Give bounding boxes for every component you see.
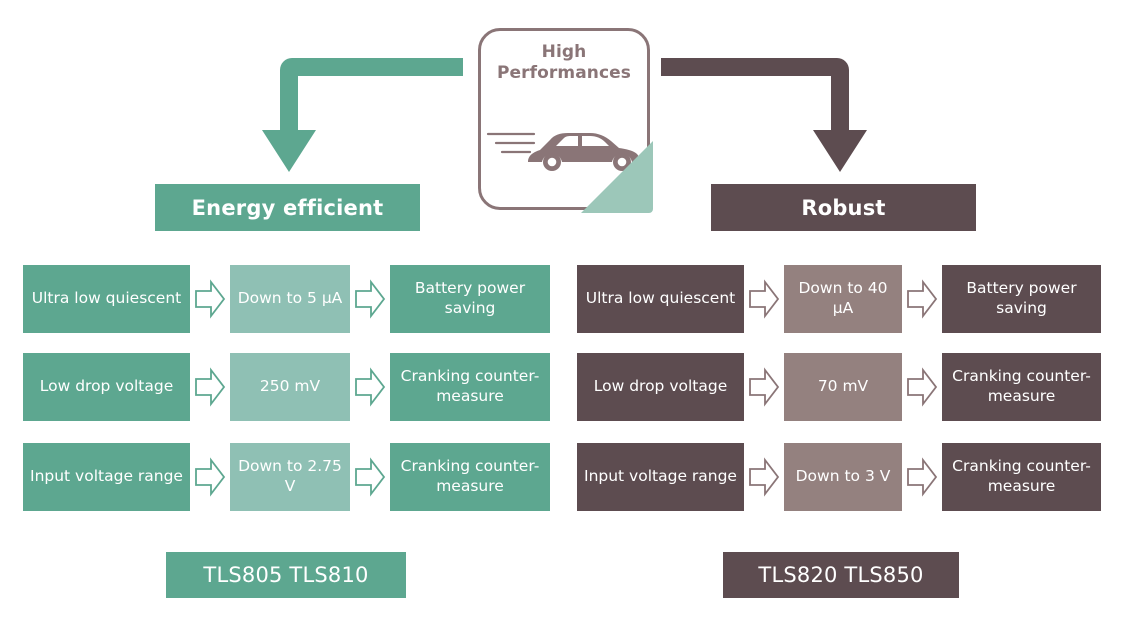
table-row: Low drop voltage 250 mV Cranking counter…	[23, 353, 550, 421]
chevron-right-icon	[190, 353, 230, 421]
value-cell: 70 mV	[784, 353, 902, 421]
chevron-right-icon	[350, 443, 390, 511]
chevron-right-icon	[744, 353, 784, 421]
benefit-cell: Cranking counter-measure	[390, 353, 550, 421]
feature-cell: Low drop voltage	[577, 353, 744, 421]
value-cell: Down to 3 V	[784, 443, 902, 511]
feature-cell: Ultra low quiescent	[577, 265, 744, 333]
card-title: High Performances	[478, 42, 650, 85]
benefit-cell: Cranking counter-measure	[942, 353, 1101, 421]
chevron-right-icon	[902, 353, 942, 421]
table-row: Low drop voltage 70 mV Cranking counter-…	[577, 353, 1101, 421]
chevron-right-icon	[350, 353, 390, 421]
table-row: Input voltage range Down to 2.75 V Crank…	[23, 443, 550, 511]
banner-robust: Robust	[711, 184, 976, 231]
folded-corner	[581, 141, 653, 213]
value-cell: Down to 5 µA	[230, 265, 350, 333]
chevron-right-icon	[190, 265, 230, 333]
chevron-right-icon	[190, 443, 230, 511]
chevron-right-icon	[744, 443, 784, 511]
benefit-cell: Cranking counter-measure	[942, 443, 1101, 511]
feature-cell: Input voltage range	[577, 443, 744, 511]
product-tag-right: TLS820 TLS850	[723, 552, 959, 598]
chevron-right-icon	[350, 265, 390, 333]
value-cell: 250 mV	[230, 353, 350, 421]
diagram-canvas: High Performances	[0, 0, 1124, 635]
chevron-right-icon	[902, 265, 942, 333]
value-cell: Down to 40 µA	[784, 265, 902, 333]
high-performances-card: High Performances	[478, 28, 650, 210]
table-row: Ultra low quiescent Down to 5 µA Battery…	[23, 265, 550, 333]
banner-energy-efficient: Energy efficient	[155, 184, 420, 231]
table-row: Input voltage range Down to 3 V Cranking…	[577, 443, 1101, 511]
benefit-cell: Battery power saving	[390, 265, 550, 333]
benefit-cell: Cranking counter-measure	[390, 443, 550, 511]
benefit-cell: Battery power saving	[942, 265, 1101, 333]
feature-cell: Ultra low quiescent	[23, 265, 190, 333]
elbow-arrow-right	[661, 52, 871, 177]
product-tag-left: TLS805 TLS810	[166, 552, 406, 598]
chevron-right-icon	[902, 443, 942, 511]
feature-cell: Low drop voltage	[23, 353, 190, 421]
chevron-right-icon	[744, 265, 784, 333]
elbow-arrow-left	[258, 52, 463, 177]
feature-cell: Input voltage range	[23, 443, 190, 511]
table-row: Ultra low quiescent Down to 40 µA Batter…	[577, 265, 1101, 333]
value-cell: Down to 2.75 V	[230, 443, 350, 511]
